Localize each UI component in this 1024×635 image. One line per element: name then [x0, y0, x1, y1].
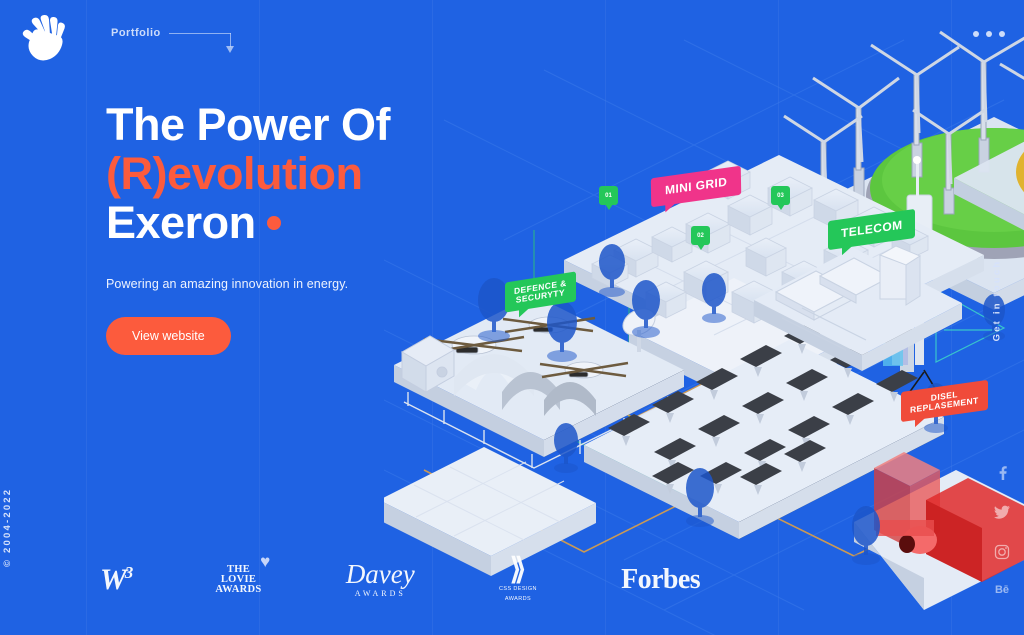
awards-row: W3 ♥ THE LOVIE AWARDS Davey AWARDS ⟫ CSS…	[100, 550, 700, 610]
nav-portfolio[interactable]: Portfolio	[111, 27, 231, 39]
title-line-3: Exeron	[106, 197, 256, 248]
w3-sup: 3	[125, 563, 132, 582]
twitter-icon[interactable]	[994, 504, 1010, 520]
cssda-line-1: CSS DESIGN	[499, 586, 537, 593]
map-pin-03: 03	[771, 186, 790, 205]
hero-subtitle: Powering an amazing innovation in energy…	[106, 277, 390, 291]
w3-letter: W	[100, 563, 125, 596]
chevron-down-icon	[226, 46, 234, 53]
social-links: Bē	[994, 464, 1010, 600]
dot-1	[973, 31, 979, 37]
cssda-mark-icon: ⟫	[499, 557, 537, 583]
dot-3	[999, 31, 1005, 37]
isometric-energy-illustration	[384, 0, 1024, 635]
waving-hand-logo[interactable]	[17, 14, 69, 62]
css-design-awards-logo[interactable]: ⟫ CSS DESIGN AWARDS	[499, 557, 537, 603]
heart-icon: ♥	[260, 557, 270, 567]
map-pin-02: 02	[691, 226, 710, 245]
behance-icon[interactable]: Bē	[995, 584, 1009, 600]
label-tail	[665, 202, 677, 213]
view-website-button[interactable]: View website	[106, 317, 231, 355]
forbes-logo[interactable]: Forbes	[621, 564, 700, 596]
nav-connector-line	[169, 33, 231, 34]
w3-awards-logo[interactable]: W3	[100, 563, 131, 597]
label-tail	[842, 244, 854, 255]
map-pin-01: 01	[599, 186, 618, 205]
davey-wordmark: Davey	[346, 562, 415, 587]
nav-portfolio-label: Portfolio	[111, 27, 161, 39]
lovie-line-3: AWARDS	[215, 585, 261, 595]
davey-subtext: AWARDS	[346, 589, 415, 598]
hero-section: The Power Of (R)evolution Exeron Powerin…	[106, 100, 390, 355]
copyright-text: © 2004-2022	[2, 488, 13, 567]
facebook-icon[interactable]	[994, 464, 1010, 480]
dot-2	[986, 31, 992, 37]
label-tail	[915, 416, 927, 427]
page-title: The Power Of (R)evolution Exeron	[106, 100, 390, 247]
get-in-touch-link[interactable]: Get in touch	[992, 246, 1003, 356]
title-line-2: (R)evolution	[106, 148, 362, 199]
lovie-awards-logo[interactable]: ♥ THE LOVIE AWARDS	[215, 565, 261, 595]
label-tail	[519, 306, 531, 317]
title-line-1: The Power Of	[106, 99, 390, 150]
instagram-icon[interactable]	[994, 544, 1010, 560]
more-dots-icon[interactable]	[973, 31, 1005, 37]
davey-awards-logo[interactable]: Davey AWARDS	[346, 562, 415, 598]
accent-dot	[267, 216, 281, 230]
cssda-line-2: AWARDS	[499, 596, 537, 603]
